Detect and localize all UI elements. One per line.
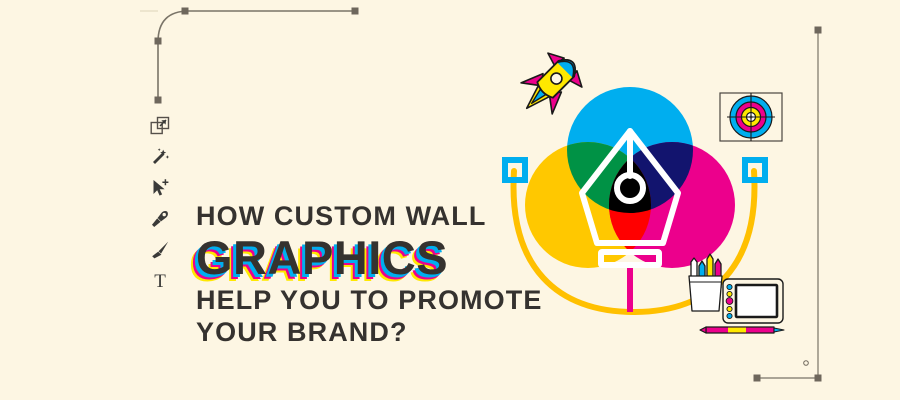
pen-nib-icon[interactable] [146, 205, 174, 233]
transform-icon[interactable] [146, 112, 174, 140]
brush-icon[interactable] [146, 236, 174, 264]
headline-accent-main: GRAPHICS [196, 235, 448, 281]
pencil-cup-icon [689, 254, 722, 311]
text-icon[interactable]: T [146, 267, 174, 295]
text-tool-label: T [154, 272, 166, 291]
headline-line-4: YOUR BRAND? [196, 319, 542, 346]
headline-line-3: HELP YOU TO PROMOTE [196, 287, 542, 314]
magic-wand-icon[interactable] [146, 143, 174, 171]
stylus-pencil-icon [700, 327, 784, 333]
banner-canvas: T HOW CUSTOM WALL GRAPHICS GRAPHICS GRAP… [0, 0, 900, 400]
cursor-add-icon[interactable] [146, 174, 174, 202]
headline-accent-word: GRAPHICS GRAPHICS GRAPHICS GRAPHICS [196, 235, 496, 281]
headline-block: HOW CUSTOM WALL GRAPHICS GRAPHICS GRAPHI… [196, 203, 542, 346]
vector-editor-toolbar: T [145, 112, 175, 295]
headline-line-1: HOW CUSTOM WALL [196, 203, 542, 230]
graphics-tablet-icon [723, 279, 783, 323]
